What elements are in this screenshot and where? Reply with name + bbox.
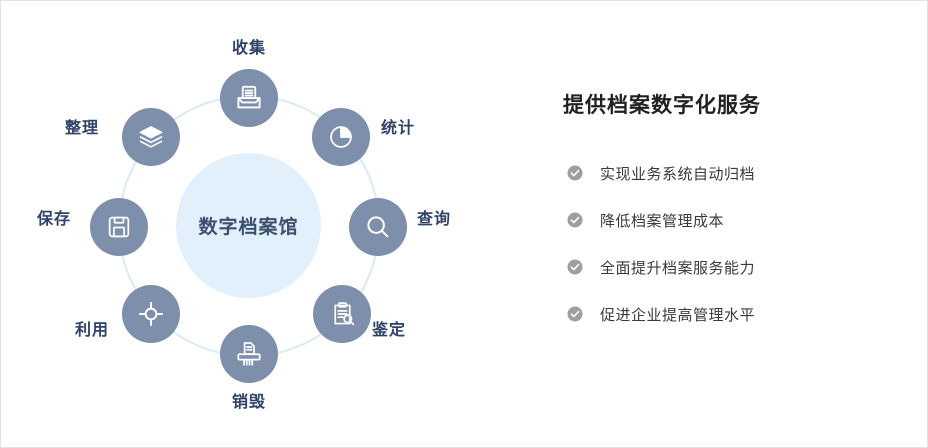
inbox-tray-icon: [234, 83, 264, 113]
node-organize[interactable]: [122, 108, 180, 166]
crosshair-target-icon: [136, 299, 166, 329]
node-utilize[interactable]: [122, 285, 180, 343]
layers-stack-icon: [137, 123, 165, 151]
node-appraisal[interactable]: [313, 285, 371, 343]
service-panel: 提供档案数字化服务 实现业务系统自动归档 降低: [563, 1, 923, 448]
node-label-utilize: 利用: [75, 316, 109, 340]
node-label-appraisal: 鉴定: [372, 316, 406, 340]
node-label-query: 查询: [417, 205, 451, 229]
floppy-disk-icon: [105, 213, 133, 241]
check-circle-icon: [566, 211, 584, 229]
node-label-organize: 整理: [65, 114, 99, 138]
check-circle-icon: [566, 164, 584, 182]
node-label-collect: 收集: [220, 34, 278, 58]
node-statistics[interactable]: [312, 108, 370, 166]
node-label-statistics: 统计: [381, 114, 415, 138]
shredder-icon: [234, 339, 264, 369]
hub-label: 数字档案馆: [198, 212, 298, 239]
list-item: 实现业务系统自动归档: [566, 161, 906, 185]
list-item: 促进企业提高管理水平: [566, 302, 906, 326]
node-label-destroy: 销毁: [220, 388, 278, 412]
benefit-text: 全面提升档案服务能力: [600, 257, 755, 278]
benefit-text: 实现业务系统自动归档: [600, 163, 755, 184]
magnifier-icon: [363, 212, 393, 242]
check-circle-icon: [566, 258, 584, 276]
pie-chart-icon: [327, 123, 355, 151]
benefit-text: 降低档案管理成本: [600, 210, 724, 231]
list-item: 全面提升档案服务能力: [566, 255, 906, 279]
node-collect[interactable]: [220, 69, 278, 127]
archive-lifecycle-diagram: 数字档案馆 收集: [1, 1, 501, 448]
panel-title: 提供档案数字化服务: [563, 89, 761, 119]
benefit-list: 实现业务系统自动归档 降低档案管理成本 全面: [566, 161, 906, 349]
node-preserve[interactable]: [90, 198, 148, 256]
diagram-hub: 数字档案馆: [176, 153, 321, 298]
node-label-preserve: 保存: [37, 205, 71, 229]
infographic-canvas: 数字档案馆 收集: [0, 0, 928, 448]
node-destroy[interactable]: [220, 325, 278, 383]
clipboard-search-icon: [328, 300, 357, 329]
benefit-text: 促进企业提高管理水平: [600, 304, 755, 325]
node-query[interactable]: [349, 198, 407, 256]
check-circle-icon: [566, 305, 584, 323]
list-item: 降低档案管理成本: [566, 208, 906, 232]
